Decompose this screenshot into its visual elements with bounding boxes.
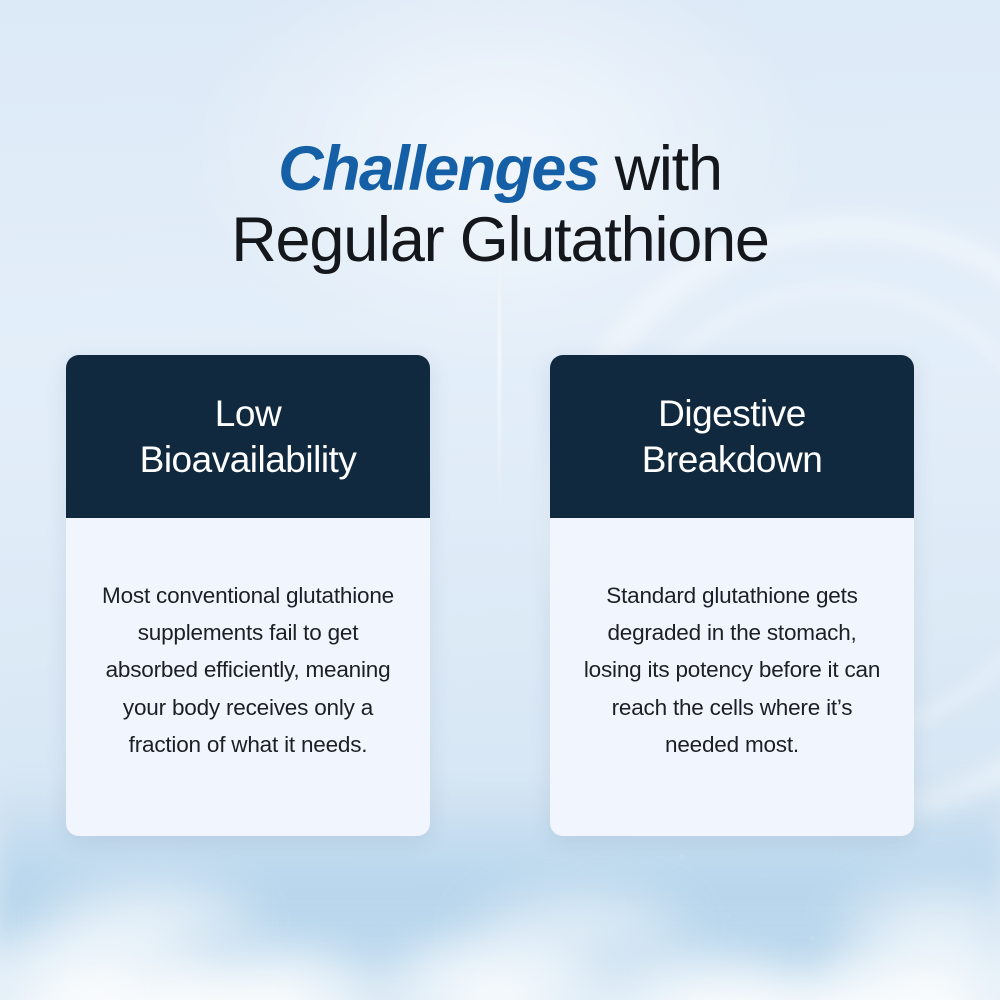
challenge-card-header: DigestiveBreakdown (550, 355, 914, 518)
cloud-blob (760, 902, 1000, 1000)
challenge-card-title: DigestiveBreakdown (642, 391, 823, 483)
challenge-card-description: Standard glutathione gets degraded in th… (580, 577, 884, 764)
challenge-card-header: LowBioavailability (66, 355, 430, 518)
background-center-light (498, 236, 501, 526)
background-speckle (560, 842, 940, 972)
challenge-card: DigestiveBreakdown Standard glutathione … (550, 355, 914, 836)
challenge-card: LowBioavailability Most conventional glu… (66, 355, 430, 836)
page-title-rest: with (598, 134, 722, 204)
challenge-card-description: Most conventional glutathione supplement… (96, 577, 400, 764)
cloud-blob (0, 896, 270, 1000)
poster-canvas: Challenges with Regular Glutathione LowB… (0, 0, 1000, 1000)
cloud-blob (800, 862, 1000, 982)
cloud-blob (430, 868, 730, 988)
page-title-line-2: Regular Glutathione (0, 205, 1000, 276)
cloud-blob (0, 960, 400, 1000)
challenge-card-body: Most conventional glutathione supplement… (66, 518, 430, 763)
cloud-blob (0, 860, 300, 980)
challenge-card-body: Standard glutathione gets degraded in th… (550, 518, 914, 763)
cloud-blob (110, 920, 440, 1000)
cloud-blob (540, 928, 870, 1000)
page-title-line-1: Challenges with (0, 134, 1000, 205)
cloud-blob (620, 955, 1000, 1000)
page-title: Challenges with Regular Glutathione (0, 134, 1000, 276)
cloud-blob (330, 906, 660, 1000)
page-title-accent: Challenges (278, 134, 598, 204)
challenge-card-title: LowBioavailability (140, 391, 357, 483)
